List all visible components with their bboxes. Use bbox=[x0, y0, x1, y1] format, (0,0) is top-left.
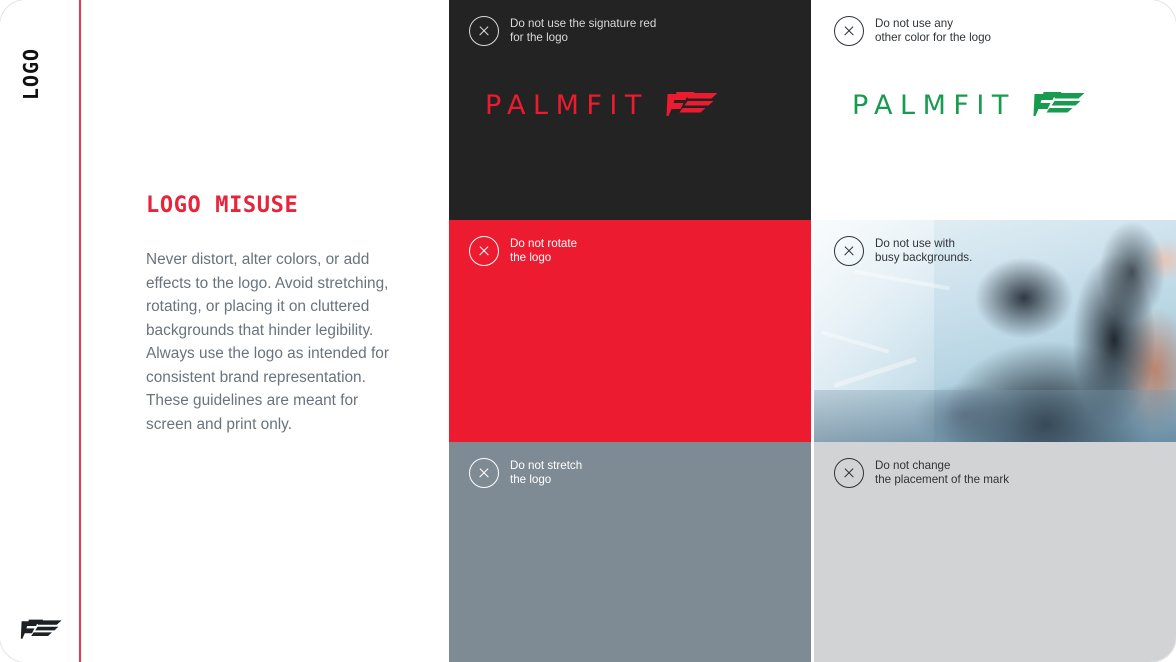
wordmark: PALMFIT bbox=[485, 92, 649, 119]
x-circle-icon bbox=[834, 236, 864, 266]
page-description: Never distort, alter colors, or add effe… bbox=[146, 248, 398, 436]
x-circle-icon bbox=[469, 16, 499, 46]
panel-note: Do not change the placement of the mark bbox=[834, 458, 1009, 488]
panel-note: Do not use any other color for the logo bbox=[834, 16, 991, 46]
panel-rotate: Do not rotate the logo PALMFIT bbox=[449, 220, 811, 442]
copy-column: LOGO MISUSE Never distort, alter colors,… bbox=[146, 0, 416, 662]
footer-wing-mark-icon bbox=[20, 618, 64, 644]
panel-note: Do not rotate the logo bbox=[469, 236, 577, 266]
panel-mark-placement: Do not change the placement of the mark … bbox=[814, 442, 1176, 662]
panel-other-color: Do not use any other color for the logo … bbox=[814, 0, 1176, 220]
x-circle-icon bbox=[469, 458, 499, 488]
panel-stretch: Do not stretch the logo PALMFIT bbox=[449, 442, 811, 662]
section-label: LOGO bbox=[19, 34, 43, 114]
logo-lockup: PALMFIT bbox=[485, 90, 721, 120]
panel-note: Do not use the signature red for the log… bbox=[469, 16, 656, 46]
panel-note: Do not stretch the logo bbox=[469, 458, 582, 488]
red-divider bbox=[79, 0, 81, 662]
wordmark: PALMFIT bbox=[852, 92, 1016, 119]
brand-guidelines-page: LOGO LOGO MISUSE Never distort, alter co… bbox=[0, 0, 1176, 662]
x-circle-icon bbox=[469, 236, 499, 266]
logo-lockup: PALMFIT bbox=[852, 90, 1088, 120]
panel-note: Do not use with busy backgrounds. bbox=[834, 236, 972, 266]
wing-mark-icon bbox=[1032, 90, 1088, 120]
page-title: LOGO MISUSE bbox=[146, 193, 298, 218]
left-rail: LOGO bbox=[0, 0, 79, 662]
x-circle-icon bbox=[834, 458, 864, 488]
panel-signature-red: Do not use the signature red for the log… bbox=[449, 0, 811, 220]
wing-mark-icon bbox=[665, 90, 721, 120]
panel-busy-background: Do not use with busy backgrounds. PALMFI… bbox=[814, 220, 1176, 442]
misuse-grid: Do not use the signature red for the log… bbox=[449, 0, 1176, 662]
x-circle-icon bbox=[834, 16, 864, 46]
